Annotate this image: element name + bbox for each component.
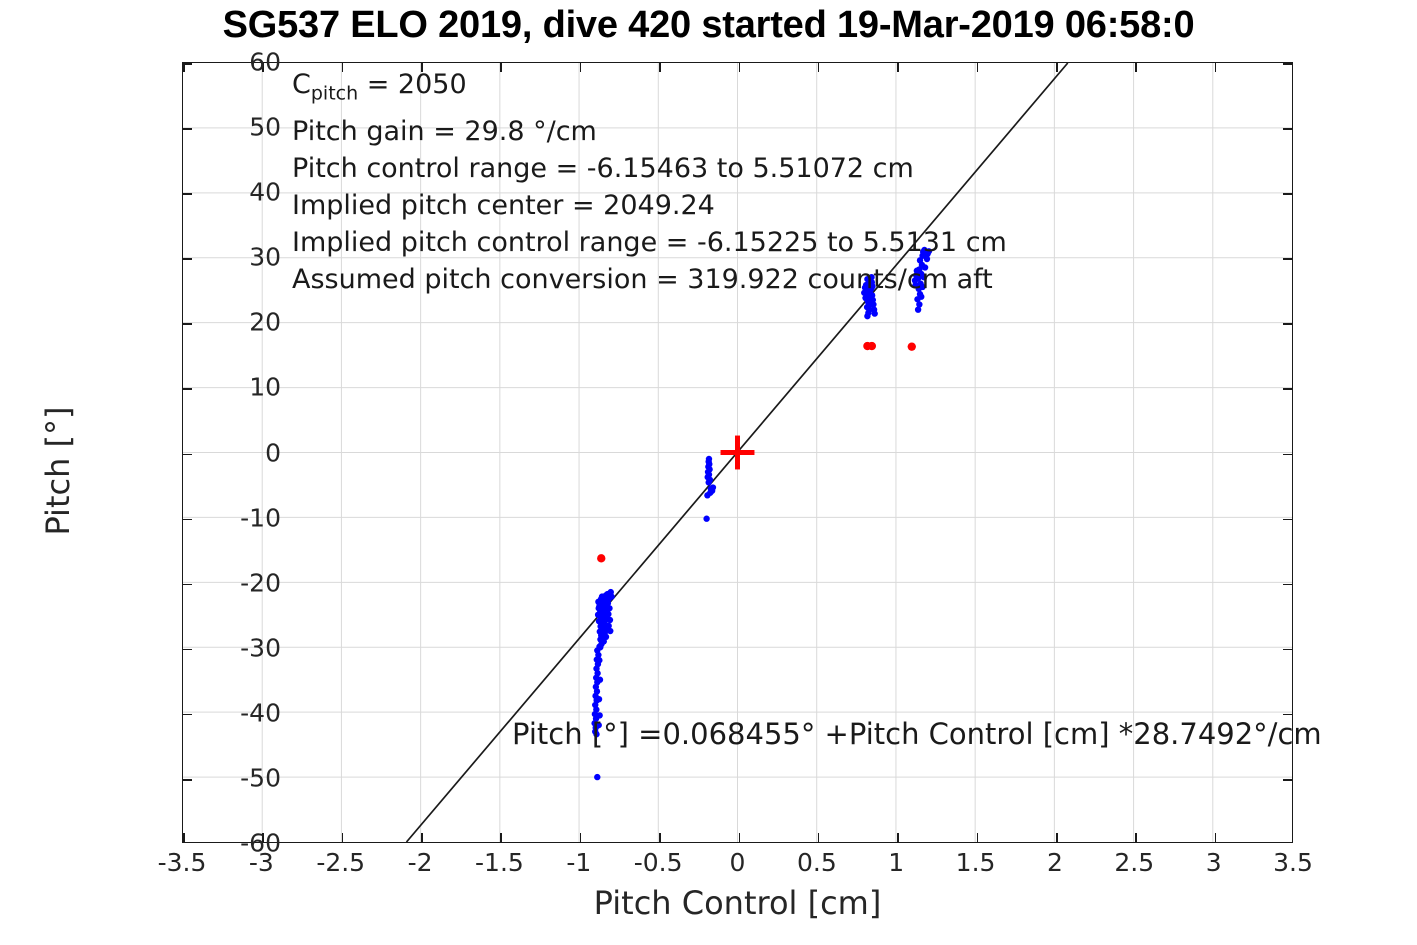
y-axis-tick [183, 714, 192, 716]
y-axis-tick [1283, 128, 1292, 130]
y-axis-tick [1283, 454, 1292, 456]
scatter-points-blue [591, 247, 932, 781]
y-tick-label: -30 [240, 633, 281, 662]
y-axis-tick [183, 128, 192, 130]
y-tick-label: 20 [249, 308, 281, 337]
figure-root: SG537 ELO 2019, dive 420 started 19-Mar-… [0, 0, 1417, 945]
y-tick-label: -10 [240, 503, 281, 532]
y-axis-tick [1283, 584, 1292, 586]
x-axis-label: Pitch Control [cm] [182, 884, 1293, 922]
x-axis-tick [659, 63, 661, 72]
x-axis-tick [342, 63, 344, 72]
x-axis-tick [897, 63, 899, 72]
y-tick-label: -40 [240, 698, 281, 727]
x-tick-label: 3 [1206, 848, 1222, 877]
x-axis-tick [1135, 63, 1137, 72]
y-tick-label: 30 [249, 243, 281, 272]
y-axis-tick [1283, 779, 1292, 781]
x-tick-label: 1.5 [956, 848, 996, 877]
x-axis-tick [342, 833, 344, 842]
x-tick-label: 0 [730, 848, 746, 877]
y-axis-tick [183, 649, 192, 651]
x-axis-tick [1056, 63, 1058, 72]
x-axis-tick [580, 833, 582, 842]
y-axis-tick [183, 258, 192, 260]
x-tick-label: -2 [408, 848, 433, 877]
x-axis-tick [580, 63, 582, 72]
x-axis-tick [739, 63, 741, 72]
y-axis-tick [183, 323, 192, 325]
y-tick-label: 40 [249, 178, 281, 207]
x-axis-tick [818, 63, 820, 72]
y-axis-tick [1283, 519, 1292, 521]
plot-overlay [183, 63, 1292, 842]
y-axis-tick [183, 779, 192, 781]
x-tick-label: -1.5 [475, 848, 524, 877]
y-axis-tick [1283, 323, 1292, 325]
y-tick-label: -20 [240, 568, 281, 597]
y-axis-tick [1283, 388, 1292, 390]
x-axis-tick [659, 833, 661, 842]
x-tick-label: 2.5 [1114, 848, 1154, 877]
y-axis-tick [1283, 63, 1292, 65]
x-tick-label: 0.5 [797, 848, 837, 877]
x-axis-tick [977, 63, 979, 72]
y-axis-tick [183, 584, 192, 586]
x-axis-tick [818, 833, 820, 842]
x-tick-label: 1 [888, 848, 904, 877]
x-tick-label: -2.5 [316, 848, 365, 877]
y-tick-label: 50 [249, 113, 281, 142]
y-tick-label: -60 [240, 829, 281, 858]
x-axis-tick [977, 833, 979, 842]
x-axis-tick [739, 833, 741, 842]
y-axis-label: Pitch [°] [39, 351, 77, 591]
pitch-center-cross-marker [721, 436, 755, 470]
x-axis-tick [183, 833, 185, 842]
x-tick-label: 2 [1047, 848, 1063, 877]
page-title: SG537 ELO 2019, dive 420 started 19-Mar-… [223, 2, 1195, 48]
y-tick-label: 60 [249, 48, 281, 77]
y-axis-tick [1283, 193, 1292, 195]
x-axis-tick [1215, 63, 1217, 72]
y-axis-tick [183, 388, 192, 390]
y-axis-tick [1283, 649, 1292, 651]
y-axis-tick [1283, 714, 1292, 716]
y-axis-tick [183, 193, 192, 195]
y-axis-tick [1283, 258, 1292, 260]
y-tick-label: -50 [240, 763, 281, 792]
x-axis-tick [1056, 833, 1058, 842]
x-axis-tick [500, 63, 502, 72]
y-axis-tick [183, 454, 192, 456]
x-tick-label: -3.5 [158, 848, 207, 877]
x-axis-tick [421, 833, 423, 842]
y-axis-tick [183, 63, 192, 65]
x-axis-tick [421, 63, 423, 72]
plot-area [182, 62, 1293, 843]
y-tick-label: 10 [249, 373, 281, 402]
x-tick-label: -1 [566, 848, 591, 877]
x-axis-tick [500, 833, 502, 842]
x-axis-tick [897, 833, 899, 842]
x-tick-label: -0.5 [634, 848, 683, 877]
x-axis-tick [1135, 833, 1137, 842]
y-tick-label: 0 [265, 438, 281, 467]
y-axis-tick [183, 519, 192, 521]
x-tick-label: 3.5 [1273, 848, 1313, 877]
x-axis-tick [1215, 833, 1217, 842]
